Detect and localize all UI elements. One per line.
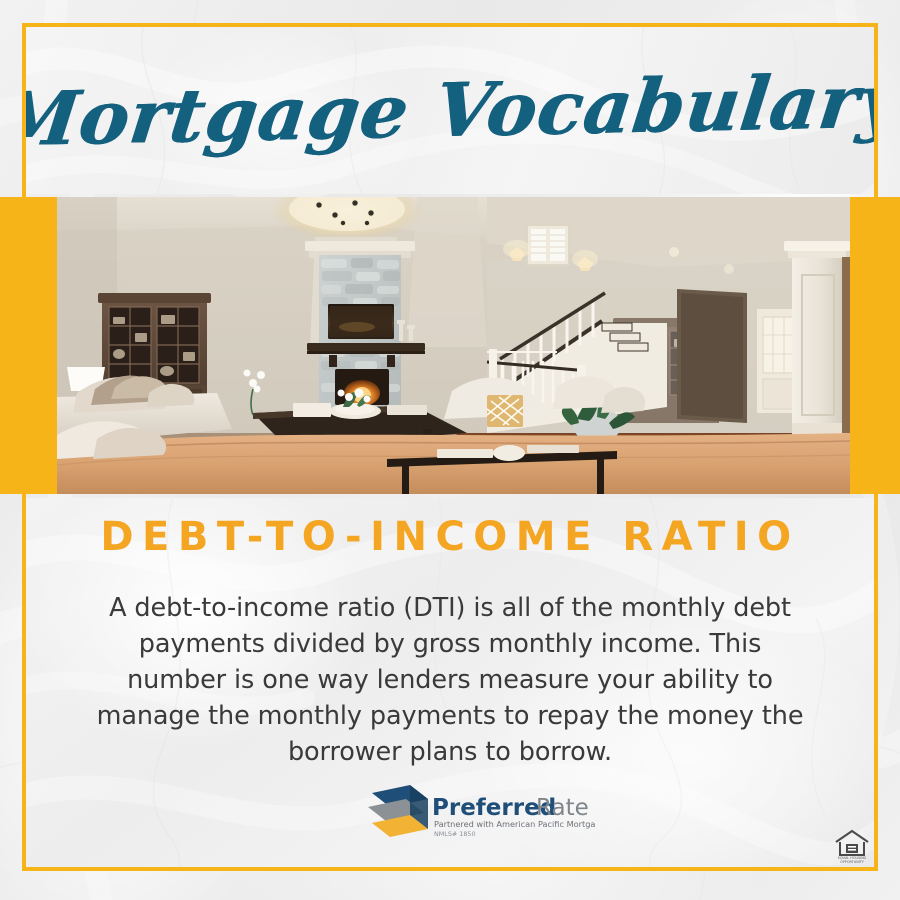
svg-text:Rate: Rate (536, 795, 589, 821)
photo-strip (0, 197, 900, 494)
term-definition: A debt-to-income ratio (DTI) is all of t… (88, 590, 812, 770)
svg-text:OPPORTUNITY: OPPORTUNITY (840, 860, 865, 864)
poster-canvas: Mortgage Vocabulary (0, 0, 900, 900)
definition-section: DEBT-TO-INCOME RATIO A debt-to-income ra… (26, 498, 874, 870)
title-band: Mortgage Vocabulary (26, 27, 874, 194)
equal-housing-opportunity-icon: EQUAL HOUSING OPPORTUNITY (832, 824, 872, 864)
preferred-rate-logo: Preferred Rate Partnered with American P… (366, 781, 596, 843)
logo-nmls: NMLS# 1850 (434, 830, 476, 838)
living-room-photo (57, 197, 850, 494)
logo-tagline: Partnered with American Pacific Mortgage (434, 819, 596, 829)
term-heading: DEBT-TO-INCOME RATIO (26, 514, 874, 560)
page-title: Mortgage Vocabulary (26, 64, 874, 157)
